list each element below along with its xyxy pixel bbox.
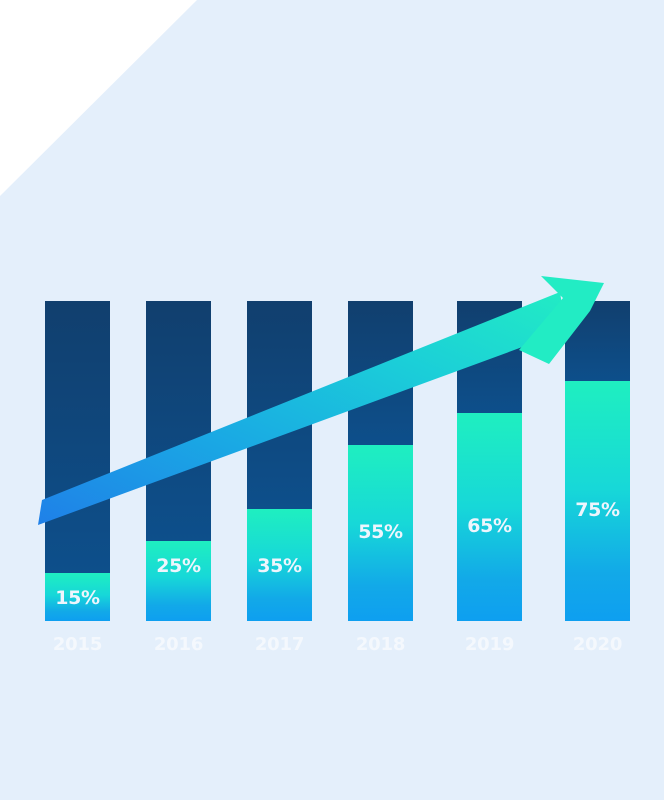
bar-remainder-2016: [146, 301, 211, 541]
bar-2020[interactable]: 75%: [565, 301, 630, 621]
bar-value-2017: 35%: [247, 509, 312, 621]
bar-2018[interactable]: 55%: [348, 301, 413, 621]
axis-label-2017: 2017: [247, 636, 312, 654]
bar-value-2016: 25%: [146, 541, 211, 621]
bar-remainder-2017: [247, 301, 312, 509]
bar-2019[interactable]: 65%: [457, 301, 522, 621]
bar-2017[interactable]: 35%: [247, 301, 312, 621]
axis-label-2015: 2015: [45, 636, 110, 654]
bar-2016[interactable]: 25%: [146, 301, 211, 621]
bar-remainder-2015: [45, 301, 110, 573]
bar-data-label-2017: 35%: [247, 557, 312, 576]
bar-remainder-2019: [457, 301, 522, 413]
bar-data-label-2018: 55%: [348, 523, 413, 542]
bar-value-2018: 55%: [348, 445, 413, 621]
bar-data-label-2020: 75%: [565, 501, 630, 520]
bar-data-label-2015: 15%: [45, 589, 110, 608]
axis-label-2018: 2018: [348, 636, 413, 654]
bar-value-2020: 75%: [565, 381, 630, 621]
growth-bar-chart-infographic: 15% 2015 25% 2016 35% 2017 55% 2018: [0, 0, 664, 800]
bar-data-label-2016: 25%: [146, 557, 211, 576]
chart-plot-area: 15% 2015 25% 2016 35% 2017 55% 2018: [0, 0, 664, 800]
bar-2015[interactable]: 15%: [45, 301, 110, 621]
bar-remainder-2018: [348, 301, 413, 445]
bar-value-2019: 65%: [457, 413, 522, 621]
axis-label-2019: 2019: [457, 636, 522, 654]
bar-data-label-2019: 65%: [457, 517, 522, 536]
bar-value-2015: 15%: [45, 573, 110, 621]
axis-label-2016: 2016: [146, 636, 211, 654]
axis-label-2020: 2020: [565, 636, 630, 654]
bar-remainder-2020: [565, 301, 630, 381]
